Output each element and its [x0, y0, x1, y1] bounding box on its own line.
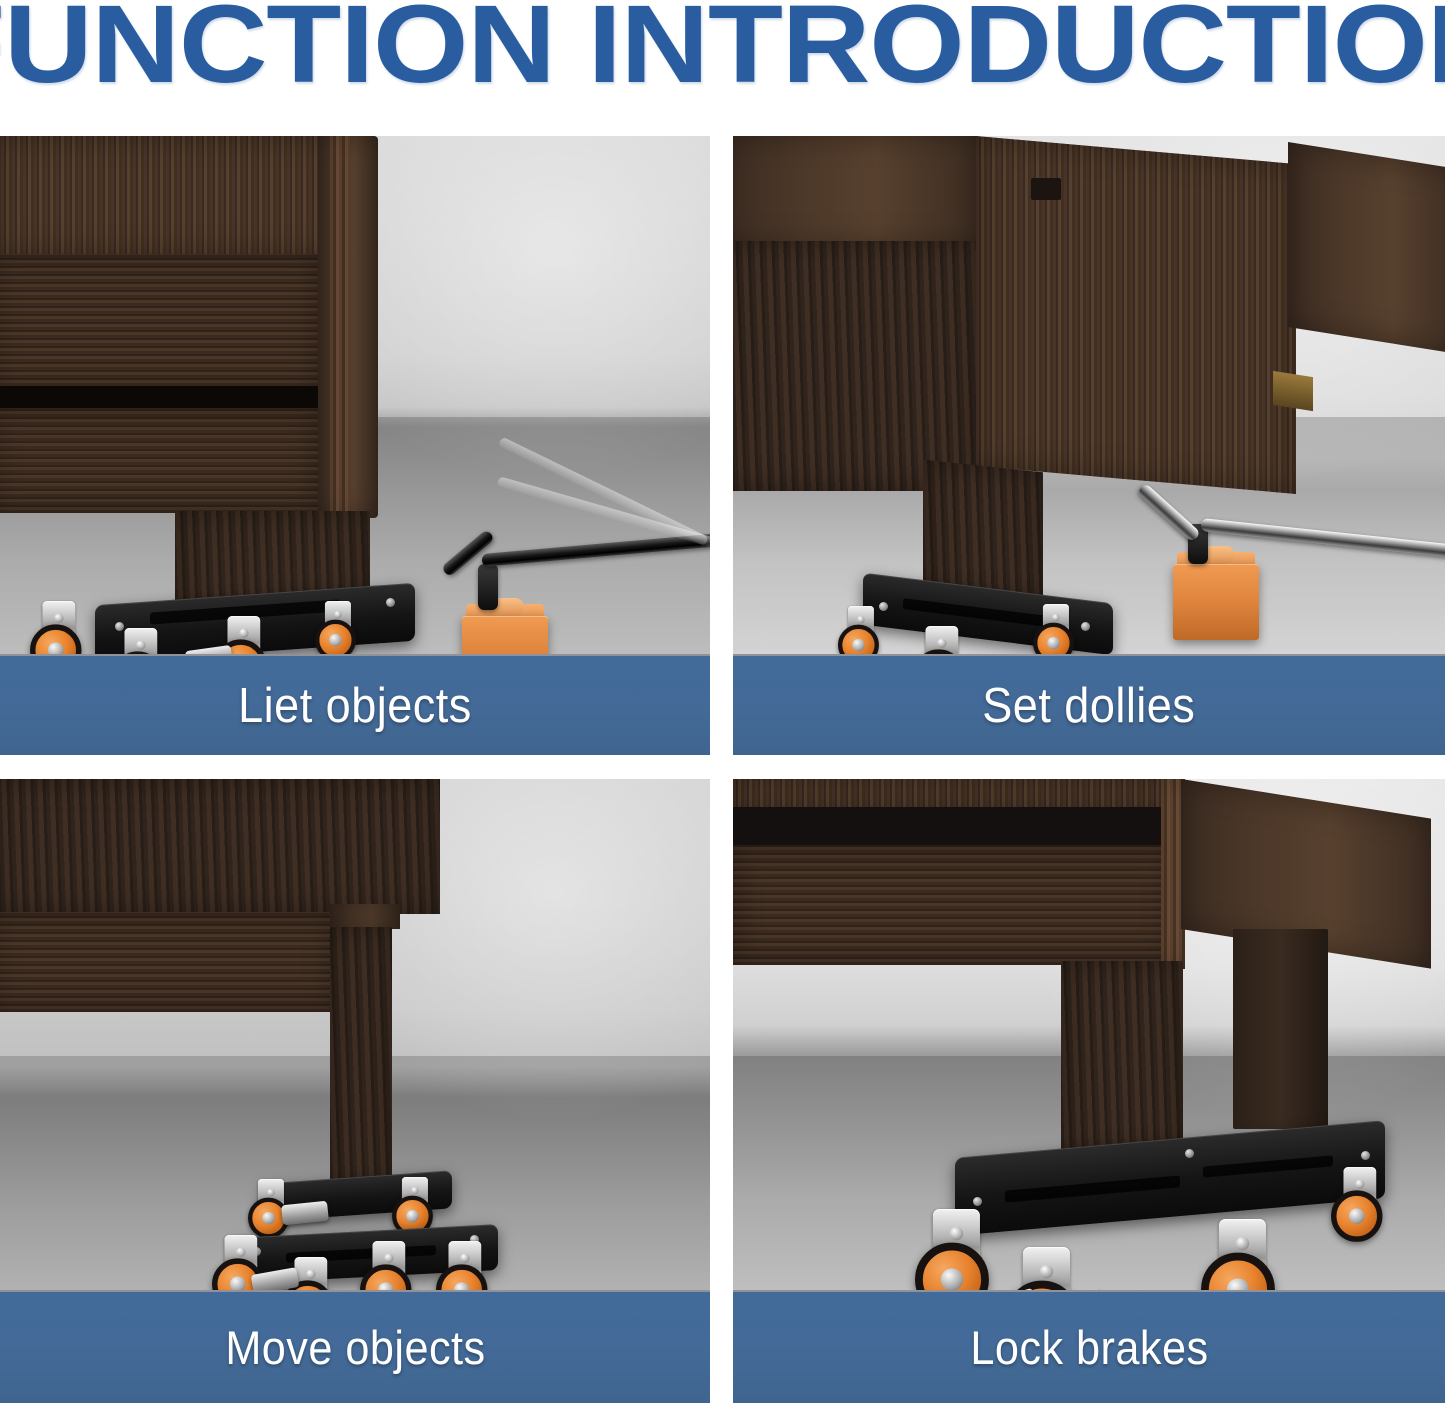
- cabinet-corner-edge: [330, 136, 350, 516]
- caster-pin: [306, 1269, 315, 1278]
- jack-body: [462, 616, 548, 656]
- cabinet-right-wing: [1288, 142, 1445, 355]
- caster-wheel-right: [1033, 604, 1079, 656]
- caster-pin: [1040, 1265, 1053, 1278]
- cabinet-left-lower: [733, 241, 978, 491]
- caster-wheel-rear-right: [315, 601, 361, 656]
- caster-wheel-left: [838, 606, 884, 656]
- table-top: [0, 779, 440, 914]
- caster-hub: [262, 1212, 274, 1224]
- cabinet-leg-right: [1233, 929, 1328, 1129]
- cabinet-front-ribbed: [976, 136, 1296, 494]
- cabinet-left-face: [733, 136, 978, 246]
- panel-1-caption-text: Liet objects: [238, 678, 472, 734]
- caster-wheel-rear-right: [1331, 1167, 1389, 1242]
- caster-pin: [239, 628, 248, 637]
- dolly-bolt: [386, 598, 395, 607]
- caster-hub: [329, 634, 341, 646]
- jack-body: [1173, 564, 1259, 640]
- table-apron: [0, 912, 335, 1012]
- panel-2-caption-text: Set dollies: [982, 678, 1195, 734]
- table-leg: [330, 927, 392, 1202]
- page-title: FUNCTION INTRODUCTION: [0, 0, 1445, 96]
- caster-hub: [1047, 637, 1059, 649]
- caster-hub: [1349, 1208, 1365, 1224]
- caster-hub: [852, 639, 864, 651]
- caster-pin: [334, 611, 341, 618]
- lifting-jack-tool: [1173, 544, 1259, 640]
- table-side-edge: [330, 904, 400, 929]
- caster-pin: [1355, 1179, 1364, 1188]
- cabinet-drawer-handle: [1031, 178, 1061, 200]
- cabinet-drawer-front: [0, 254, 320, 394]
- cabinet-lower-front: [0, 408, 320, 513]
- cabinet-top-ribbed: [733, 779, 1173, 809]
- caster-pin: [236, 1247, 245, 1256]
- lever-pivot: [478, 564, 498, 610]
- caster-wheel-front-center: [112, 628, 170, 656]
- panel-grid: Liet objects: [0, 136, 1445, 1403]
- dolly-bolt: [973, 1197, 982, 1206]
- caster-pin: [460, 1253, 469, 1262]
- caster-hub: [941, 1268, 963, 1290]
- panel-4-caption-bar: Lock brakes: [733, 1290, 1445, 1403]
- panel-move-objects: Move objects: [0, 779, 710, 1403]
- caster-wheel-lower-right: [436, 1241, 494, 1292]
- caster-wheel-lower-center: [360, 1241, 418, 1292]
- lifting-jack-tool: [462, 596, 548, 656]
- caster-pin: [1052, 614, 1059, 621]
- cabinet-leg-left: [1061, 961, 1183, 1161]
- panel-3-caption-bar: Move objects: [0, 1290, 710, 1403]
- page-title-band: FUNCTION INTRODUCTION: [0, 0, 1445, 136]
- caster-hub: [406, 1210, 418, 1222]
- cabinet-brass-trim: [1273, 371, 1313, 411]
- infographic-page: FUNCTION INTRODUCTION: [0, 0, 1445, 1403]
- panel-1-photo: [0, 136, 710, 656]
- caster-wheel-front-left: [915, 1209, 998, 1292]
- caster-pin: [384, 1253, 393, 1262]
- caster-wheel-right-center: [1201, 1219, 1284, 1292]
- panel-4-caption-text: Lock brakes: [970, 1320, 1208, 1375]
- cabinet-open-gap: [733, 807, 1163, 849]
- caster-pin: [1236, 1237, 1249, 1250]
- caster-wheel-front: [913, 626, 971, 656]
- caster-pin: [411, 1187, 418, 1194]
- dolly-bolt: [1361, 1151, 1370, 1160]
- caster-pin: [937, 638, 946, 647]
- panel-3-caption-text: Move objects: [225, 1320, 485, 1375]
- panel-set-dollies: Set dollies: [733, 136, 1445, 755]
- panel-3-photo: [0, 779, 710, 1292]
- caster-pin: [857, 616, 864, 623]
- caster-pin: [136, 640, 145, 649]
- panel-1-caption-bar: Liet objects: [0, 654, 710, 755]
- panel-4-photo: [733, 779, 1445, 1292]
- caster-wheel-front-left: [30, 601, 88, 656]
- panel-2-photo: [733, 136, 1445, 656]
- panel-2-caption-bar: Set dollies: [733, 654, 1445, 755]
- caster-pin: [267, 1189, 274, 1196]
- panel-liet-objects: Liet objects: [0, 136, 710, 755]
- cabinet-drawer-front: [733, 845, 1173, 965]
- cabinet-upper-panel: [0, 136, 340, 256]
- caster-pin: [54, 613, 63, 622]
- caster-wheel-front-brake: [1005, 1247, 1088, 1292]
- dolly-bolt: [1185, 1149, 1194, 1158]
- caster-pin: [950, 1227, 963, 1240]
- panel-lock-brakes: Lock brakes: [733, 779, 1445, 1403]
- dolly-bolt: [1081, 622, 1090, 631]
